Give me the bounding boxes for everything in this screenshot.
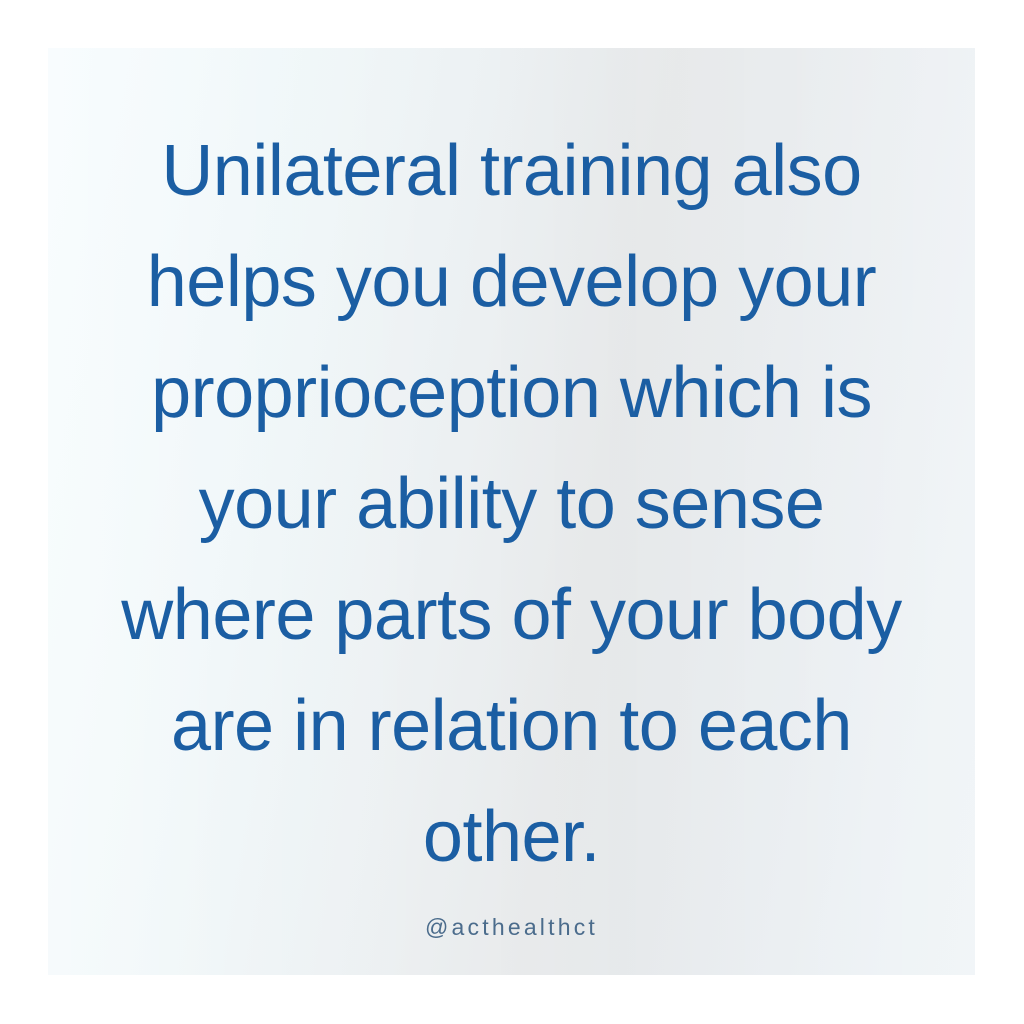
quote-line-6: are in relation to each — [82, 671, 942, 782]
quote-line-4: your ability to sense — [82, 449, 942, 560]
quote-line-7: other. — [82, 782, 942, 893]
quote-text-block: Unilateral training also helps you devel… — [82, 116, 942, 893]
page-root: Unilateral training also helps you devel… — [0, 0, 1024, 1024]
social-handle: @acthealthct — [48, 914, 975, 941]
quote-card: Unilateral training also helps you devel… — [48, 48, 975, 975]
quote-line-2: helps you develop your — [82, 227, 942, 338]
quote-line-5: where parts of your body — [82, 560, 942, 671]
quote-line-1: Unilateral training also — [82, 116, 942, 227]
quote-line-3: proprioception which is — [82, 338, 942, 449]
